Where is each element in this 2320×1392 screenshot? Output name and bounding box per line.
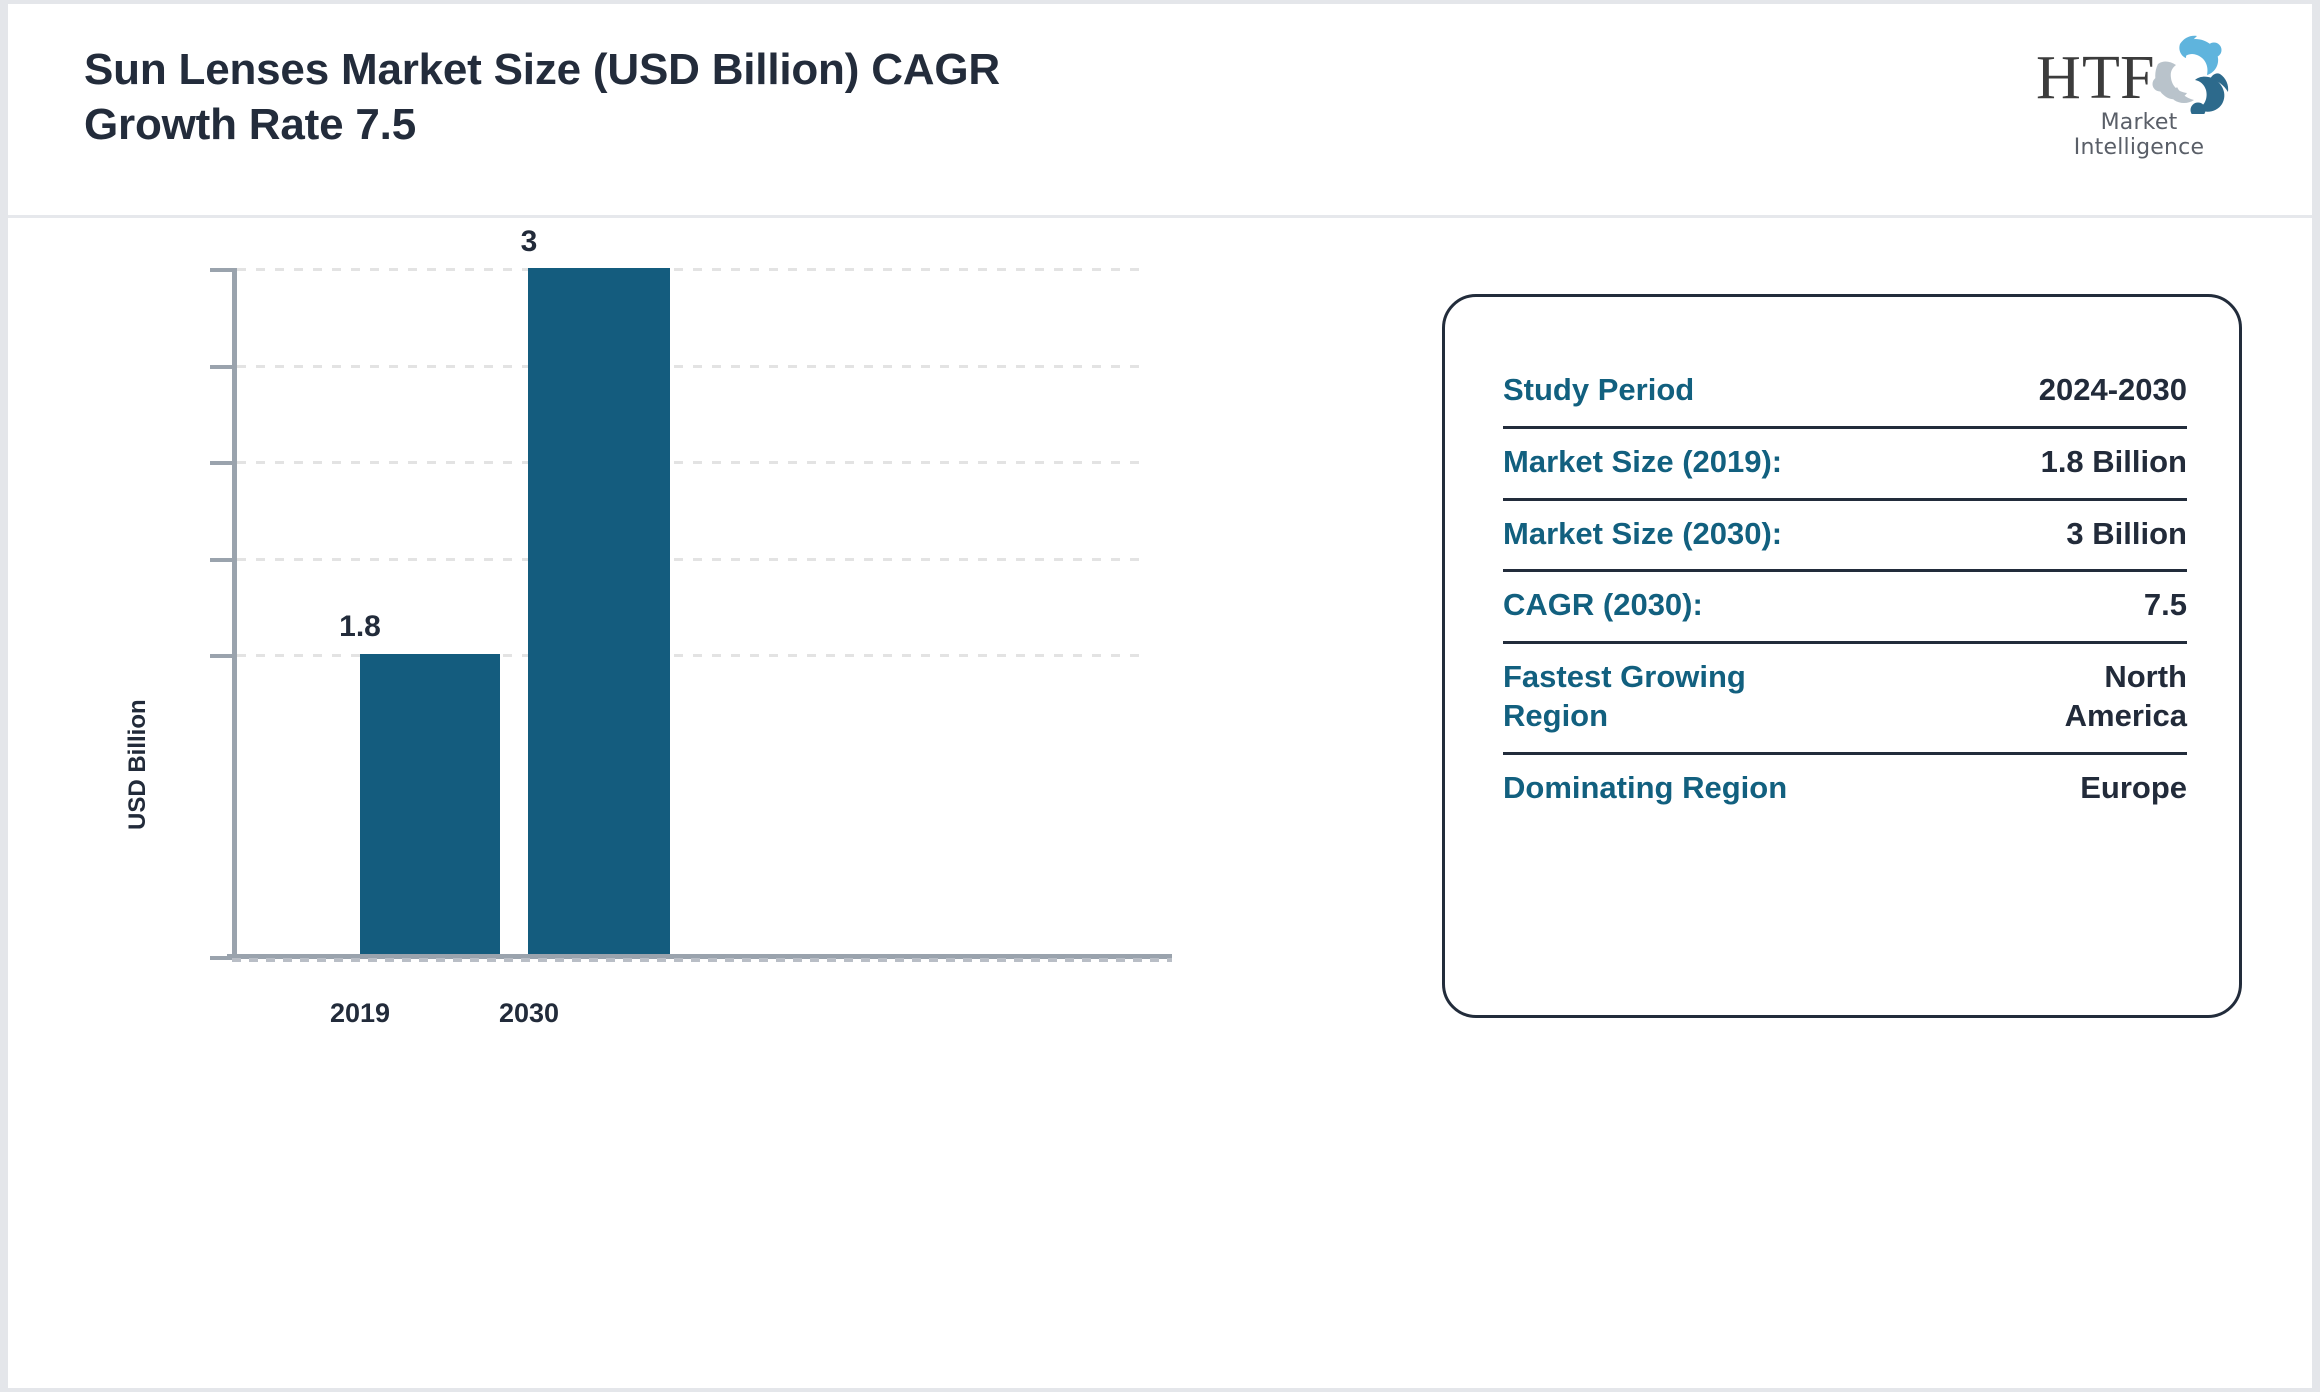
table-row: Market Size (2019): 1.8 Billion	[1503, 429, 2187, 501]
table-row: Market Size (2030): 3 Billion	[1503, 501, 2187, 573]
y-tick-mark	[210, 268, 232, 272]
row-value: North America	[2065, 658, 2187, 736]
row-value: Europe	[2080, 769, 2187, 808]
brand-logo: H T F Market	[2034, 32, 2244, 142]
logo-caption: Market Intelligence	[2034, 110, 2244, 160]
y-axis-line	[232, 268, 237, 959]
table-row: CAGR (2030): 7.5	[1503, 572, 2187, 644]
header-bar: Sun Lenses Market Size (USD Billion) CAG…	[8, 4, 2312, 218]
row-value: 2024-2030	[2039, 371, 2187, 410]
x-axis-label-2030: 2030	[458, 998, 600, 1029]
gridline	[237, 558, 1148, 561]
gridline	[237, 365, 1148, 368]
y-tick-mark	[210, 558, 232, 562]
gridline	[237, 461, 1148, 464]
baseline-dash	[232, 958, 1172, 962]
bar-value-label-2030: 3	[458, 225, 600, 259]
y-tick-mark	[210, 365, 232, 369]
bar-2030[interactable]	[528, 268, 670, 954]
row-value: 1.8 Billion	[2041, 443, 2187, 482]
row-label: Market Size (2019):	[1503, 443, 1782, 482]
svg-text:T: T	[2082, 44, 2120, 112]
page-root: Sun Lenses Market Size (USD Billion) CAG…	[0, 0, 2320, 1392]
summary-row-list: Study Period 2024-2030 Market Size (2019…	[1503, 357, 2187, 823]
market-summary-card: Study Period 2024-2030 Market Size (2019…	[1442, 294, 2242, 1018]
y-tick-mark	[210, 956, 232, 960]
y-tick-mark	[210, 461, 232, 465]
row-value: 7.5	[2144, 586, 2187, 625]
htf-logo-icon: H T F	[2034, 32, 2244, 114]
bar-2019[interactable]	[360, 654, 500, 954]
svg-text:F: F	[2120, 44, 2154, 112]
gridline	[237, 268, 1148, 271]
svg-text:H: H	[2036, 44, 2081, 112]
table-row: Dominating Region Europe	[1503, 755, 2187, 824]
table-row: Study Period 2024-2030	[1503, 357, 2187, 429]
row-label: CAGR (2030):	[1503, 586, 1703, 625]
bar-chart: USD Billion 3 2 2 1 1 0	[8, 218, 1408, 1388]
page-title: Sun Lenses Market Size (USD Billion) CAG…	[84, 42, 1434, 153]
bar-value-label-2019: 1.8	[290, 610, 430, 644]
y-tick-mark	[210, 654, 232, 658]
x-axis-label-2019: 2019	[290, 998, 430, 1029]
row-label: Fastest Growing Region	[1503, 658, 1746, 736]
row-value: 3 Billion	[2066, 515, 2187, 554]
row-label: Dominating Region	[1503, 769, 1787, 808]
row-label: Market Size (2030):	[1503, 515, 1782, 554]
table-row: Fastest Growing Region North America	[1503, 644, 2187, 755]
row-label: Study Period	[1503, 371, 1694, 410]
y-axis-title: USD Billion	[124, 699, 152, 830]
